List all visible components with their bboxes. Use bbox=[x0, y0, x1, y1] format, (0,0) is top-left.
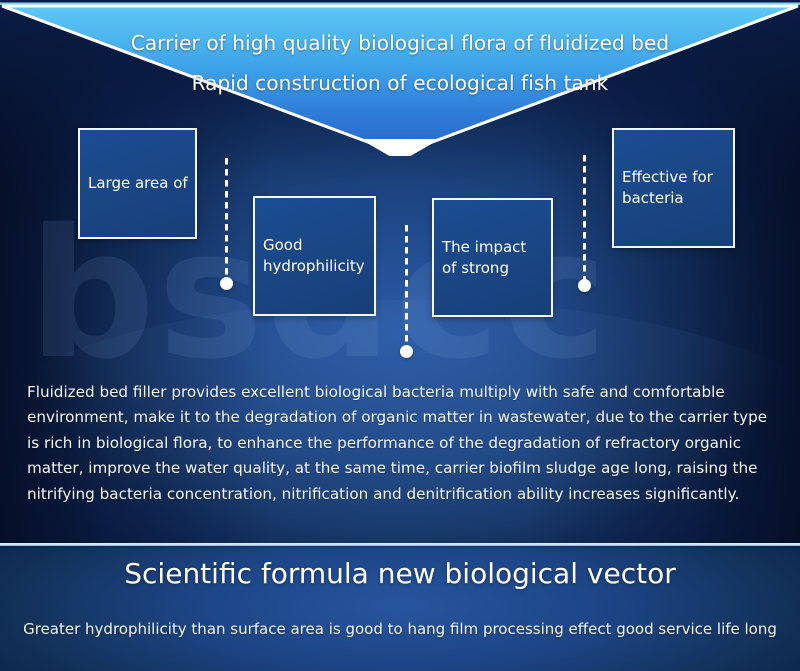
feature-box-4[interactable]: Effective for bacteria bbox=[612, 128, 735, 248]
header-line-1: Carrier of high quality biological flora… bbox=[131, 31, 669, 55]
connector-line-3 bbox=[583, 155, 586, 292]
connector-dot-2 bbox=[400, 345, 413, 358]
connector-dash-3 bbox=[583, 155, 586, 283]
connector-line-2 bbox=[405, 225, 408, 358]
feature-box-2-label: Good hydrophilicity bbox=[263, 235, 366, 277]
footer-subtitle: Greater hydrophilicity than surface area… bbox=[0, 618, 800, 640]
connector-dot-3 bbox=[578, 279, 591, 292]
connector-dot-1 bbox=[220, 277, 233, 290]
feature-box-1[interactable]: Large area of bbox=[78, 128, 197, 239]
feature-box-1-label: Large area of bbox=[88, 173, 188, 194]
footer-divider bbox=[0, 543, 800, 546]
slide-canvas: bsdcc Carrier of high quality biological… bbox=[0, 0, 800, 671]
feature-box-3[interactable]: The impact of strong bbox=[432, 198, 553, 317]
description-paragraph: Fluidized bed filler provides excellent … bbox=[27, 380, 779, 507]
feature-box-3-label: The impact of strong bbox=[442, 237, 543, 279]
header-line-2: Rapid construction of ecological fish ta… bbox=[192, 71, 609, 95]
feature-box-4-label: Effective for bacteria bbox=[622, 167, 725, 209]
footer-title: Scientific formula new biological vector bbox=[0, 557, 800, 591]
connector-line-1 bbox=[225, 158, 228, 290]
connector-dash-2 bbox=[405, 225, 408, 349]
feature-box-2[interactable]: Good hydrophilicity bbox=[253, 196, 376, 316]
connector-dash-1 bbox=[225, 158, 228, 281]
